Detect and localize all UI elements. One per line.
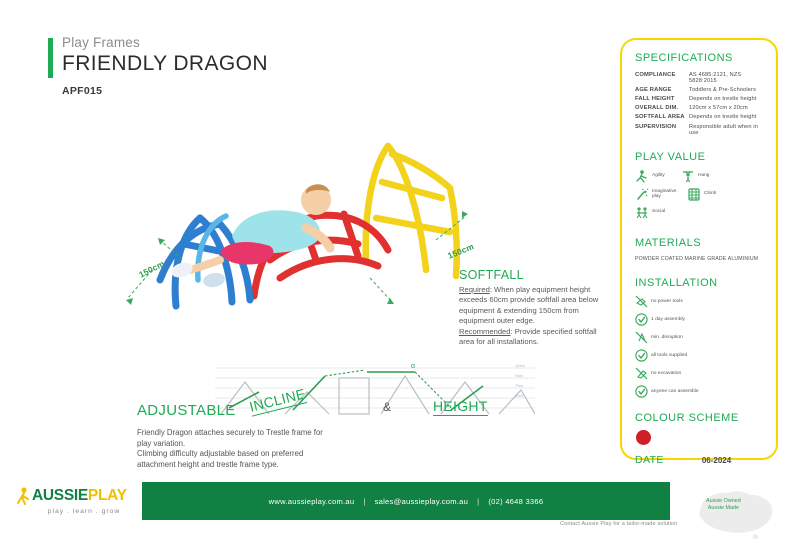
specifications-table: COMPLIANCEAS 4685:2121, NZS 5828:2015AGE… [635, 70, 763, 137]
footer-website[interactable]: www.aussieplay.com.au [269, 497, 355, 506]
no-power-tools-icon [635, 295, 648, 308]
spec-key: SOFTFALL AREA [635, 113, 689, 122]
play-value-label: Imaginative play [652, 189, 681, 200]
aussie-made-text: Aussie Owned Aussie Made [706, 498, 741, 512]
installation-heading: INSTALLATION [635, 277, 763, 289]
svg-text:90cm: 90cm [515, 374, 523, 378]
adjustable-note-line-4: attachment height and trestle frame type… [137, 460, 417, 471]
spec-key: COMPLIANCE [635, 70, 689, 85]
spec-row: SUPERVISIONResponsible adult when in use [635, 122, 763, 137]
installation-label: 1 day assembly [651, 317, 685, 323]
footer-bar: www.aussieplay.com.au | sales@aussieplay… [142, 482, 670, 520]
svg-text:70cm: 70cm [515, 384, 523, 388]
spec-value: 120cm x 57cm x 20cm [689, 104, 763, 113]
installation-item: all tools supplied [635, 349, 699, 362]
logo-aussie-text: AUSSIE [32, 487, 88, 505]
play-value-grid: AgilityHangImaginative playClimbSocial [635, 169, 763, 219]
installation-item: no excavation [635, 367, 699, 380]
specifications-panel: SPECIFICATIONS COMPLIANCEAS 4685:2121, N… [620, 38, 778, 460]
imaginative-play-icon [635, 187, 649, 201]
product-illustration [120, 120, 500, 310]
climb-icon [687, 187, 701, 201]
installation-item: 1 day assembly [635, 313, 699, 326]
softfall-required-label: Required [459, 285, 490, 294]
play-value-item: Agility [635, 169, 675, 183]
spec-row: SOFTFALL AREADepends on trestle height [635, 113, 763, 122]
footer-phone: (02) 4648 3366 [488, 497, 543, 506]
colour-swatch [636, 430, 651, 445]
softfall-recommended-label: Recommended [459, 327, 511, 336]
installation-item: min. disruption [635, 331, 699, 344]
installation-label: anyone can assemble [651, 389, 699, 395]
spec-value: Responsible adult when in use [689, 122, 763, 137]
agility-icon [635, 169, 649, 183]
svg-text:110cm: 110cm [515, 364, 525, 368]
footer-contact: www.aussieplay.com.au | sales@aussieplay… [142, 482, 670, 520]
spec-key: OVERALL DIM. [635, 104, 689, 113]
play-value-item: Hang [681, 169, 721, 183]
play-value-label: Social [652, 209, 665, 215]
footer-separator-2: | [477, 497, 479, 506]
play-value-item: Climb [687, 187, 727, 201]
footer-tagline: Contact Aussie Play for a tailor-made so… [560, 521, 677, 527]
height-word: HEIGHT [433, 398, 488, 416]
hang-icon [681, 169, 695, 183]
date-label: DATE [635, 454, 664, 466]
product-category: Play Frames [62, 34, 268, 51]
running-figure-icon [16, 486, 32, 506]
social-icon [635, 205, 649, 219]
installation-label: all tools supplied [651, 353, 687, 359]
logo-play-text: PLAY [88, 487, 127, 505]
play-value-label: Agility [652, 173, 665, 179]
colour-scheme-heading: COLOUR SCHEME [635, 412, 763, 424]
adjustable-note-line-2: play variation. [137, 439, 417, 450]
installation-label: min. disruption [651, 335, 683, 341]
date-value: 06-2024 [702, 456, 731, 465]
installation-item: anyone can assemble [635, 385, 699, 398]
spec-value: AS 4685:2121, NZS 5828:2015 [689, 70, 763, 85]
badge-line-2: Aussie Made [706, 505, 741, 512]
softfall-recommended: Recommended: Provide specified softfall … [459, 327, 609, 348]
specifications-heading: SPECIFICATIONS [635, 52, 763, 64]
adjustable-note-line-3: Climbing difficulty adjustable based on … [137, 449, 417, 460]
svg-text:α: α [411, 363, 415, 370]
spec-row: AGE RANGEToddlers & Pre-Schoolers [635, 85, 763, 94]
spec-sheet: Play Frames FRIENDLY DRAGON APF015 [0, 0, 800, 552]
spec-row: COMPLIANCEAS 4685:2121, NZS 5828:2015 [635, 70, 763, 85]
check-icon [635, 385, 648, 398]
installation-label: no excavation [651, 371, 681, 377]
no-excavation-icon [635, 367, 648, 380]
ampersand: & [383, 400, 391, 414]
aussie-made-badge: Aussie Owned Aussie Made [684, 484, 784, 540]
spec-row: OVERALL DIM.120cm x 57cm x 20cm [635, 104, 763, 113]
page-title: FRIENDLY DRAGON [62, 51, 268, 76]
footer-separator-1: | [363, 497, 365, 506]
softfall-block: SOFTFALL Required: When play equipment h… [459, 268, 609, 347]
logo-tagline: play . learn . grow [16, 508, 136, 515]
spec-key: AGE RANGE [635, 85, 689, 94]
brand-logo: AUSSIE PLAY play . learn . grow [16, 486, 136, 515]
spec-row: FALL HEIGHTDepends on trestle height [635, 94, 763, 103]
materials-heading: MATERIALS [635, 237, 763, 249]
installation-grid: no power tools1 day assemblymin. disrupt… [635, 295, 763, 398]
spec-value: Depends on trestle height [689, 113, 763, 122]
adjustable-note-line-1: Friendly Dragon attaches securely to Tre… [137, 428, 417, 439]
australia-map-icon [684, 484, 784, 540]
softfall-heading: SOFTFALL [459, 268, 609, 282]
no-disruption-icon [635, 331, 648, 344]
check-icon [635, 313, 648, 326]
product-code: APF015 [62, 85, 268, 97]
play-value-item: Social [635, 205, 675, 219]
badge-line-1: Aussie Owned [706, 498, 741, 505]
spec-value: Toddlers & Pre-Schoolers [689, 85, 763, 94]
play-value-heading: PLAY VALUE [635, 151, 763, 163]
play-value-item: Imaginative play [635, 187, 681, 201]
adjustable-word: ADJUSTABLE [137, 402, 236, 419]
installation-item: no power tools [635, 295, 699, 308]
softfall-required: Required: When play equipment height exc… [459, 285, 609, 327]
spec-value: Depends on trestle height [689, 94, 763, 103]
installation-label: no power tools [651, 299, 683, 305]
adjustable-note: Friendly Dragon attaches securely to Tre… [137, 428, 417, 470]
play-value-label: Climb [704, 191, 716, 197]
header-accent-bar [48, 38, 53, 78]
spec-key: FALL HEIGHT [635, 94, 689, 103]
page-header: Play Frames FRIENDLY DRAGON APF015 [48, 34, 268, 97]
check-icon [635, 349, 648, 362]
spec-key: SUPERVISION [635, 122, 689, 137]
materials-text: POWDER COATED MARINE GRADE ALUMINIUM [635, 255, 763, 263]
play-value-label: Hang [698, 173, 709, 179]
footer-email[interactable]: sales@aussieplay.com.au [375, 497, 469, 506]
date-row: DATE 06-2024 [635, 454, 763, 466]
adjustable-headline: ADJUSTABLE INCLINE & HEIGHT [137, 398, 537, 428]
